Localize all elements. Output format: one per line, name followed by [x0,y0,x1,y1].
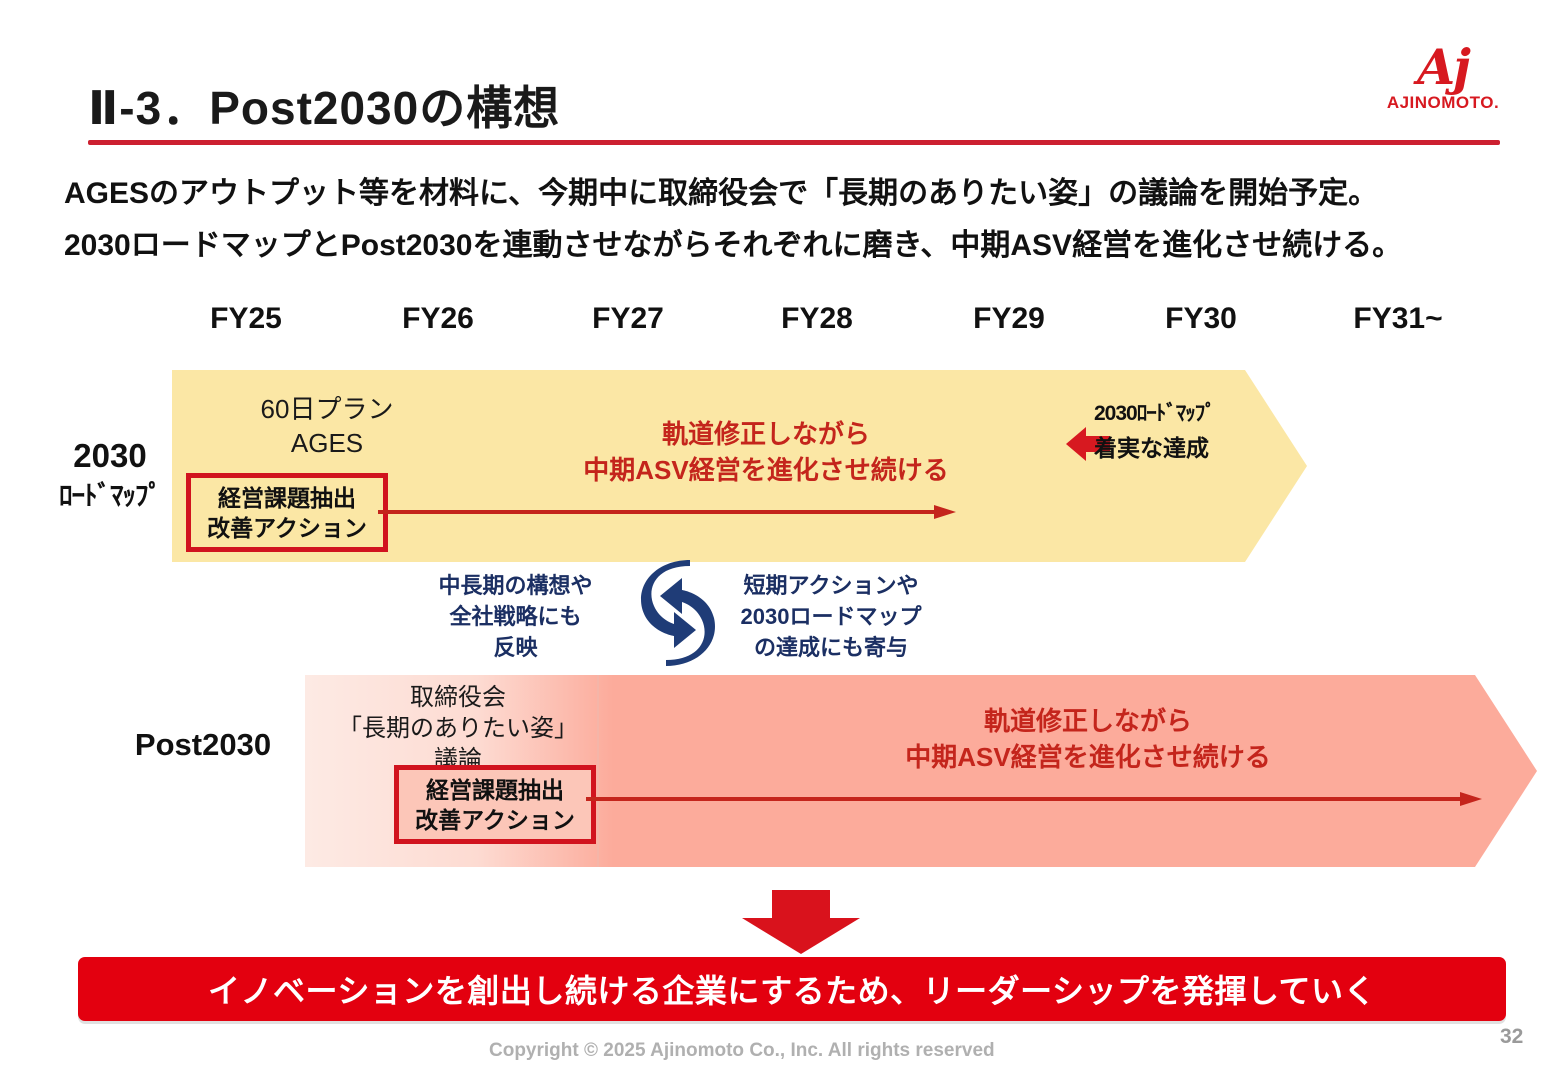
fy-label-fy30: FY30 [1165,302,1237,336]
message-2030-line1: 軌道修正しながら [536,416,996,452]
progress-arrow-post2030 [586,792,1486,806]
action-box-2030-roadmap: 経営課題抽出 改善アクション [186,473,388,552]
row-label-2030-line2: ﾛｰﾄﾞﾏｯﾌﾟ [40,476,180,516]
plan-60-days-ages: 60日プラン AGES [212,392,442,460]
ages-label: AGES [212,426,442,460]
arrow-shaft [586,797,1464,801]
board-discussion-line2: 「長期のありたい姿」 [318,713,598,744]
ajinomoto-aj-mark-icon: Aj [1417,44,1469,91]
action-box-post2030-line2: 改善アクション [415,805,575,835]
action-box-2030-line1: 経営課題抽出 [218,483,356,513]
cycle-left-line2: 全社戦略にも [418,601,613,632]
lead-line-1: AGESのアウトプット等を材料に、今期中に取締役会で「長期のありたい姿」の議論を… [64,168,1514,220]
cycle-left-line3: 反映 [418,632,613,663]
cycle-right-line2: 2030ロードマップ [716,601,946,632]
message-2030-line2: 中期ASV経営を進化させ続ける [536,452,996,488]
lead-paragraph: AGESのアウトプット等を材料に、今期中に取締役会で「長期のありたい姿」の議論を… [64,168,1514,272]
cycle-right-line1: 短期アクションや [716,570,946,601]
cycle-left-line1: 中長期の構想や [418,570,613,601]
fy-label-fy28: FY28 [781,302,853,336]
fy-label-fy25: FY25 [210,302,282,336]
fiscal-year-ruler: FY25 FY26 FY27 FY28 FY29 FY30 FY31~ [176,302,1506,348]
action-box-post2030-line1: 経営課題抽出 [426,775,564,805]
message-2030-roadmap: 軌道修正しながら 中期ASV経営を進化させ続ける [536,416,996,488]
callout-2030-text: 2030ﾛｰﾄﾞﾏｯﾌﾟ 着実な達成 [1094,397,1274,465]
action-box-post2030: 経営課題抽出 改善アクション [394,765,596,844]
copyright-text: Copyright © 2025 Ajinomoto Co., Inc. All… [489,1040,995,1062]
message-post2030: 軌道修正しながら 中期ASV経営を進化させ続ける [858,703,1318,775]
row-label-post2030: Post2030 [118,727,288,763]
title-underline-rule [88,140,1500,145]
page-number: 32 [1500,1025,1523,1049]
progress-arrow-2030-roadmap [378,505,956,519]
ajinomoto-logo: Aj AJINOMOTO. [1368,44,1518,136]
fy-label-fy26: FY26 [402,302,474,336]
callout-2030-line2: 着実な達成 [1094,431,1274,465]
callout-2030-line1: 2030ﾛｰﾄﾞﾏｯﾌﾟ [1094,397,1274,431]
ajinomoto-wordmark: AJINOMOTO. [1387,93,1499,113]
lead-line-2: 2030ロードマップとPost2030を連動させながらそれぞれに磨き、中期ASV… [64,220,1514,272]
row-label-2030-line1: 2030 [40,436,180,476]
page-title: Ⅱ-3．Post2030の構想 [88,72,560,138]
cycle-note-left: 中長期の構想や 全社戦略にも 反映 [418,570,613,663]
arrow-head-right-icon [1460,792,1482,806]
callout-2030-achievement: 2030ﾛｰﾄﾞﾏｯﾌﾟ 着実な達成 [1066,397,1266,465]
plan-60-days-label: 60日プラン [212,392,442,426]
cycle-note-right: 短期アクションや 2030ロードマップ の達成にも寄与 [716,570,946,663]
circular-arrows-icon [640,558,716,668]
message-post2030-line2: 中期ASV経営を進化させ続ける [858,739,1318,775]
row-label-2030-roadmap: 2030 ﾛｰﾄﾞﾏｯﾌﾟ [40,436,180,516]
message-post2030-line1: 軌道修正しながら [858,703,1318,739]
fy-label-fy29: FY29 [973,302,1045,336]
fy-label-fy31: FY31~ [1353,302,1442,336]
arrow-down-icon [742,890,860,952]
action-box-2030-line2: 改善アクション [207,513,367,543]
board-discussion-note: 取締役会 「長期のありたい姿」 議論 [318,682,598,775]
conclusion-banner: イノベーションを創出し続ける企業にするため、リーダーシップを発揮していく [78,957,1506,1021]
board-discussion-line1: 取締役会 [318,682,598,713]
cycle-right-line3: の達成にも寄与 [716,632,946,663]
fy-label-fy27: FY27 [592,302,664,336]
arrow-shaft [378,510,938,514]
arrow-head-right-icon [934,505,956,519]
